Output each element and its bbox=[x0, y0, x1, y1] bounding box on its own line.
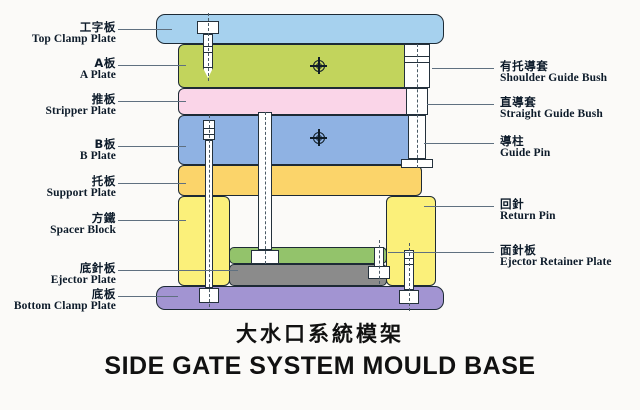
part-ejector-plate bbox=[229, 264, 387, 286]
part-stripper-plate bbox=[178, 88, 422, 115]
leader-spacer-block bbox=[118, 220, 186, 221]
label-en: Ejector Plate bbox=[51, 274, 116, 286]
leader-guide-pin bbox=[424, 143, 494, 144]
part-a-plate bbox=[178, 44, 422, 88]
label-cn: 托板 bbox=[47, 175, 116, 187]
label-support-plate: 托板 Support Plate bbox=[47, 175, 116, 199]
label-cn: 有托導套 bbox=[500, 60, 607, 72]
label-guide-pin: 導柱 Guide Pin bbox=[500, 135, 550, 159]
leader-a-plate bbox=[118, 65, 186, 66]
clamp-screw-centerline bbox=[208, 13, 209, 81]
label-cn: 推板 bbox=[46, 93, 117, 105]
leader-stripper-plate bbox=[118, 101, 186, 102]
label-en: Stripper Plate bbox=[46, 105, 117, 117]
label-return-pin: 回針 Return Pin bbox=[500, 198, 556, 222]
leader-bottom-clamp-plate bbox=[118, 296, 178, 297]
label-en: Top Clamp Plate bbox=[32, 33, 116, 45]
label-en: Shoulder Guide Bush bbox=[500, 72, 607, 84]
center-sleeve-centerline bbox=[265, 112, 266, 264]
label-cn: 直導套 bbox=[500, 96, 603, 108]
label-top-clamp-plate: 工字板 Top Clamp Plate bbox=[32, 21, 116, 45]
leader-straight-guide-bush bbox=[427, 104, 494, 105]
label-cn: 回針 bbox=[500, 198, 556, 210]
leader-b-plate bbox=[118, 146, 186, 147]
leader-shoulder-guide-bush bbox=[432, 68, 494, 69]
part-spacer-block-left bbox=[178, 196, 230, 286]
diagram-title: 大水口系統模架 SIDE GATE SYSTEM MOULD BASE bbox=[0, 318, 640, 381]
label-en: Return Pin bbox=[500, 210, 556, 222]
return-pin-right-centerline bbox=[379, 240, 380, 284]
title-english: SIDE GATE SYSTEM MOULD BASE bbox=[0, 352, 640, 381]
ejector-bolt-centerline bbox=[409, 243, 410, 311]
label-a-plate: A板 A Plate bbox=[80, 57, 116, 81]
label-en: Support Plate bbox=[47, 187, 116, 199]
label-cn: 面針板 bbox=[500, 244, 612, 256]
crosshair-icon-b-plate bbox=[311, 130, 326, 145]
part-support-plate bbox=[178, 165, 422, 196]
label-en: Ejector Retainer Plate bbox=[500, 256, 612, 268]
diagram-canvas: 工字板 Top Clamp Plate A板 A Plate 推板 Stripp… bbox=[0, 0, 640, 410]
label-en: Guide Pin bbox=[500, 147, 550, 159]
crosshair-icon-a-plate bbox=[311, 58, 326, 73]
label-ejector-retainer-plate: 面針板 Ejector Retainer Plate bbox=[500, 244, 612, 268]
label-stripper-plate: 推板 Stripper Plate bbox=[46, 93, 117, 117]
guide-pin-centerline bbox=[417, 44, 418, 168]
leader-return-pin bbox=[424, 206, 494, 207]
label-cn: 方鐵 bbox=[50, 212, 116, 224]
leader-support-plate bbox=[118, 183, 186, 184]
label-spacer-block: 方鐵 Spacer Block bbox=[50, 212, 116, 236]
label-b-plate: B板 B Plate bbox=[80, 138, 116, 162]
label-en: B Plate bbox=[80, 150, 116, 162]
title-chinese: 大水口系統模架 bbox=[0, 318, 640, 348]
label-en: A Plate bbox=[80, 69, 116, 81]
return-pin-left-centerline bbox=[209, 115, 210, 307]
leader-top-clamp-plate bbox=[118, 29, 172, 30]
label-bottom-clamp-plate: 底板 Bottom Clamp Plate bbox=[14, 288, 116, 312]
leader-ejector-retainer-plate bbox=[388, 252, 494, 253]
label-cn: A板 bbox=[80, 57, 116, 69]
label-cn: 工字板 bbox=[32, 21, 116, 33]
label-cn: 底針板 bbox=[51, 262, 116, 274]
label-shoulder-guide-bush: 有托導套 Shoulder Guide Bush bbox=[500, 60, 607, 84]
label-en: Bottom Clamp Plate bbox=[14, 300, 116, 312]
label-cn: 導柱 bbox=[500, 135, 550, 147]
label-en: Straight Guide Bush bbox=[500, 108, 603, 120]
label-cn: B板 bbox=[80, 138, 116, 150]
label-en: Spacer Block bbox=[50, 224, 116, 236]
label-cn: 底板 bbox=[14, 288, 116, 300]
label-straight-guide-bush: 直導套 Straight Guide Bush bbox=[500, 96, 603, 120]
leader-ejector-plate bbox=[118, 270, 238, 271]
label-ejector-plate: 底針板 Ejector Plate bbox=[51, 262, 116, 286]
